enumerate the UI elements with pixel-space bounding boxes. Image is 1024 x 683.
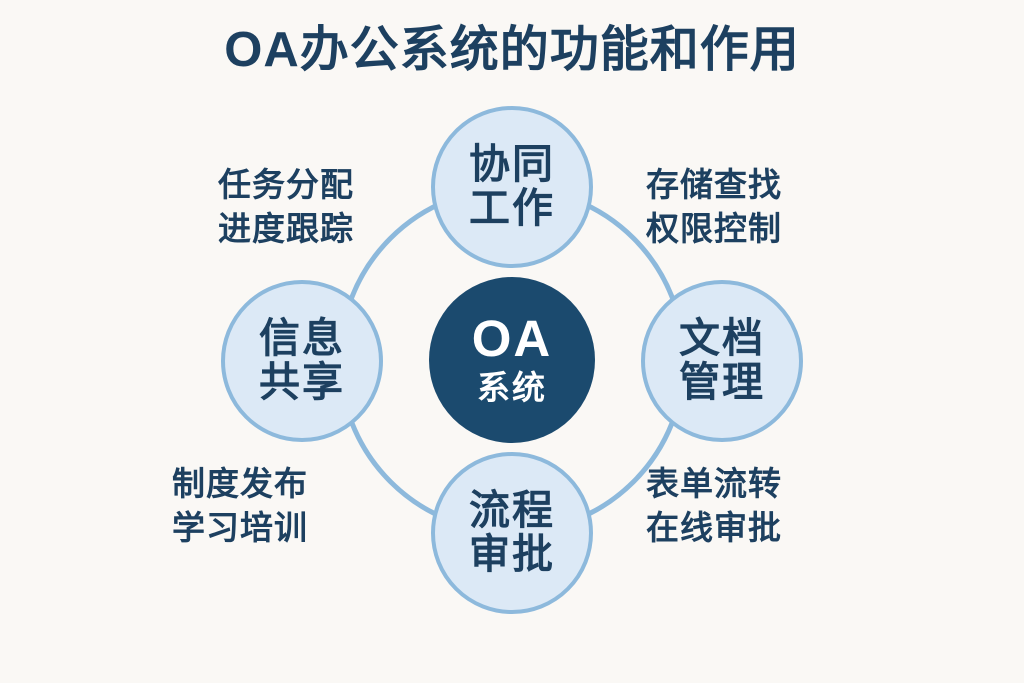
node-label-line2: 工作 bbox=[469, 187, 555, 231]
annotation-form-circulation: 表单流转 在线审批 bbox=[646, 462, 782, 550]
annotation-task-assignment: 任务分配 进度跟踪 bbox=[218, 163, 354, 251]
node-label-line1: 流程 bbox=[469, 489, 555, 533]
node-label-line1: 文档 bbox=[679, 317, 765, 361]
annotation-line2: 权限控制 bbox=[646, 207, 782, 251]
center-node-title: OA bbox=[472, 313, 553, 364]
annotation-line2: 学习培训 bbox=[172, 506, 308, 550]
annotation-storage-search: 存储查找 权限控制 bbox=[646, 163, 782, 251]
annotation-line1: 任务分配 bbox=[218, 163, 354, 207]
oa-system-infographic: OA办公系统的功能和作用 协同 工作 文档 管理 流程 审批 信息 共享 OA … bbox=[0, 0, 1024, 683]
annotation-line1: 制度发布 bbox=[172, 462, 308, 506]
node-label-line2: 共享 bbox=[259, 361, 345, 405]
annotation-line1: 表单流转 bbox=[646, 462, 782, 506]
annotation-line2: 在线审批 bbox=[646, 506, 782, 550]
annotation-policy-release: 制度发布 学习培训 bbox=[172, 462, 308, 550]
node-label-line2: 审批 bbox=[469, 533, 555, 577]
node-label-line2: 管理 bbox=[679, 361, 765, 405]
node-circle-collaboration[interactable]: 协同 工作 bbox=[431, 106, 593, 268]
center-node-subtitle: 系统 bbox=[477, 370, 547, 406]
node-circle-information-sharing[interactable]: 信息 共享 bbox=[221, 280, 383, 442]
node-circle-document-management[interactable]: 文档 管理 bbox=[641, 280, 803, 442]
annotation-line2: 进度跟踪 bbox=[218, 207, 354, 251]
center-node-oa-system[interactable]: OA 系统 bbox=[429, 277, 595, 443]
node-label-line1: 信息 bbox=[259, 317, 345, 361]
annotation-line1: 存储查找 bbox=[646, 163, 782, 207]
node-circle-process-approval[interactable]: 流程 审批 bbox=[431, 452, 593, 614]
node-label-line1: 协同 bbox=[469, 143, 555, 187]
